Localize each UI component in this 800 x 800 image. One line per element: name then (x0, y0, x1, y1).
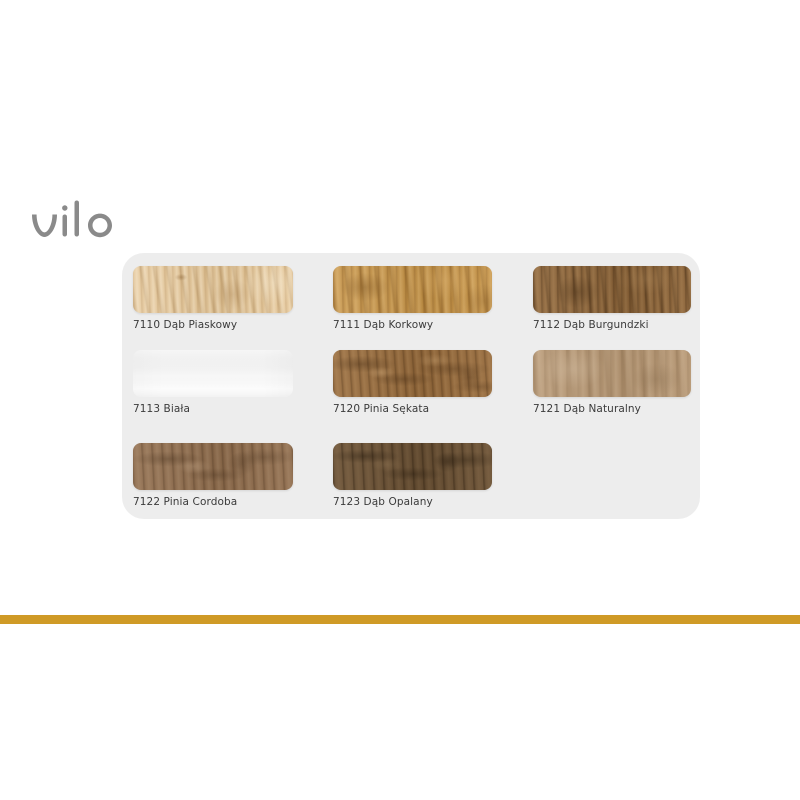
wood-grain-overlay (533, 350, 691, 397)
swatch-label-7112: 7112 Dąb Burgundzki (533, 319, 700, 331)
swatch-item-7113[interactable]: 7113 Biała (133, 350, 333, 443)
wood-grain-overlay (533, 266, 691, 313)
swatch-item-7112[interactable]: 7112 Dąb Burgundzki (533, 266, 700, 350)
wood-grain-overlay (333, 443, 492, 490)
swatch-chip-7110[interactable] (133, 266, 293, 313)
wood-grain-overlay (333, 266, 492, 313)
wood-grain-overlay (333, 350, 492, 397)
swatch-chip-7112[interactable] (533, 266, 691, 313)
wood-grain-overlay (133, 443, 293, 490)
swatch-item-7110[interactable]: 7110 Dąb Piaskowy (133, 266, 333, 350)
wood-grain-overlay (333, 350, 492, 397)
wood-grain-overlay (333, 266, 492, 313)
wood-grain-overlay (133, 443, 293, 490)
swatch-chip-7120[interactable] (333, 350, 492, 397)
wood-grain-overlay (333, 266, 492, 313)
swatch-chip-7123[interactable] (333, 443, 492, 490)
swatch-label-7120: 7120 Pinia Sękata (333, 403, 533, 415)
wood-grain-overlay (133, 266, 293, 313)
swatch-label-7121: 7121 Dąb Naturalny (533, 403, 700, 415)
bottom-accent-bar (0, 615, 800, 624)
swatch-grid: 7110 Dąb Piaskowy 7111 Dąb Korkowy 7112 … (133, 266, 690, 523)
gloss-overlay (133, 350, 293, 397)
brand-logo (26, 196, 146, 254)
wood-grain-overlay (533, 350, 691, 397)
swatch-item-7111[interactable]: 7111 Dąb Korkowy (333, 266, 533, 350)
swatch-card-panel: 7110 Dąb Piaskowy 7111 Dąb Korkowy 7112 … (122, 253, 700, 519)
swatch-item-7121[interactable]: 7121 Dąb Naturalny (533, 350, 700, 443)
gloss-overlay (133, 350, 293, 397)
swatch-chip-7111[interactable] (333, 266, 492, 313)
swatch-label-7110: 7110 Dąb Piaskowy (133, 319, 333, 331)
swatch-label-7122: 7122 Pinia Cordoba (133, 496, 333, 508)
swatch-label-7123: 7123 Dąb Opalany (333, 496, 533, 508)
wood-grain-overlay (133, 266, 293, 313)
swatch-chip-7121[interactable] (533, 350, 691, 397)
swatch-label-7111: 7111 Dąb Korkowy (333, 319, 533, 331)
wood-grain-overlay (533, 266, 691, 313)
wood-grain-overlay (133, 443, 293, 490)
wood-grain-overlay (533, 350, 691, 397)
swatch-chip-7122[interactable] (133, 443, 293, 490)
swatch-item-7122[interactable]: 7122 Pinia Cordoba (133, 443, 333, 523)
wood-grain-overlay (333, 443, 492, 490)
wood-grain-overlay (333, 350, 492, 397)
wood-grain-overlay (333, 443, 492, 490)
swatch-chip-7113[interactable] (133, 350, 293, 397)
wood-grain-overlay (133, 266, 293, 313)
swatch-item-7120[interactable]: 7120 Pinia Sękata (333, 350, 533, 443)
wood-grain-overlay (533, 266, 691, 313)
swatch-label-7113: 7113 Biała (133, 403, 333, 415)
swatch-item-7123[interactable]: 7123 Dąb Opalany (333, 443, 533, 523)
vilo-wordmark-icon (26, 196, 146, 254)
